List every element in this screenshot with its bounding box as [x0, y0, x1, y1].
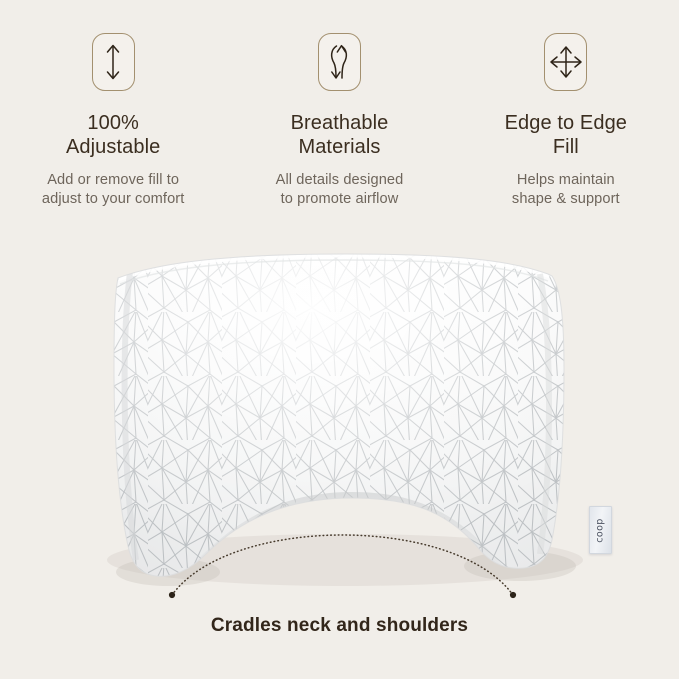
product-feature-graphic: 100% Adjustable Add or remove fill to ad…	[0, 0, 679, 679]
arc-endpoint-left	[169, 592, 175, 598]
vertical-double-arrow-icon-box	[92, 33, 135, 91]
airflow-circulation-arrows-icon	[325, 41, 353, 83]
cradle-arc-annotation	[0, 500, 679, 610]
dotted-arc	[172, 535, 513, 595]
airflow-circulation-arrows-icon-box	[318, 33, 361, 91]
arc-endpoint-right	[510, 592, 516, 598]
vertical-double-arrow-icon	[101, 41, 125, 83]
feature-title: 100% Adjustable	[66, 112, 160, 159]
feature-subtitle: All details designed to promote airflow	[276, 171, 404, 209]
feature-column-adjustable: 100% Adjustable Add or remove fill to ad…	[0, 0, 226, 209]
four-way-arrow-icon-box	[544, 33, 587, 91]
feature-column-edge-to-edge: Edge to Edge Fill Helps maintain shape &…	[453, 0, 679, 209]
feature-column-breathable: Breathable Materials All details designe…	[226, 0, 452, 209]
four-way-arrow-icon	[548, 44, 584, 80]
feature-title: Edge to Edge Fill	[505, 112, 627, 159]
feature-title: Breathable Materials	[291, 112, 389, 159]
feature-subtitle: Helps maintain shape & support	[512, 171, 620, 209]
cradle-caption: Cradles neck and shoulders	[0, 615, 679, 637]
feature-subtitle: Add or remove fill to adjust to your com…	[42, 171, 185, 209]
feature-row: 100% Adjustable Add or remove fill to ad…	[0, 0, 679, 240]
